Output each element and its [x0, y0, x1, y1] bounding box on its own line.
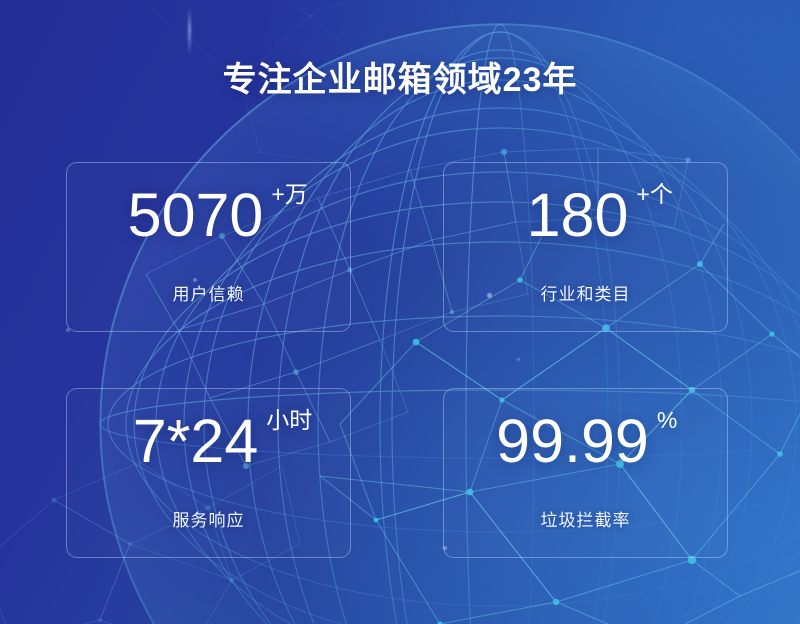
stat-card-service-response: 7*24 小时 服务响应	[66, 388, 351, 558]
stat-unit: +万	[271, 183, 307, 206]
light-streak-icon	[188, 8, 191, 56]
stat-card-industries-categories: 180 +个 行业和类目	[443, 162, 728, 332]
stat-label: 行业和类目	[541, 280, 631, 305]
stat-label: 用户信赖	[173, 280, 245, 305]
stat-value: 7*24 小时	[133, 411, 259, 472]
promo-banner: 专注企业邮箱领域23年 5070 +万 用户信赖 180 +个 行业和类目 7*…	[0, 0, 800, 624]
stat-value: 99.99 %	[496, 411, 649, 472]
stat-label: 垃圾拦截率	[541, 506, 631, 531]
stat-value: 5070 +万	[128, 185, 264, 246]
stat-card-spam-intercept-rate: 99.99 % 垃圾拦截率	[443, 388, 728, 558]
stat-number: 180	[527, 181, 629, 249]
stat-unit: +个	[636, 183, 672, 206]
stat-unit: 小时	[266, 409, 312, 432]
stat-card-users-trusted: 5070 +万 用户信赖	[66, 162, 351, 332]
stat-number: 5070	[128, 181, 264, 249]
stat-number: 99.99	[496, 407, 649, 475]
stat-label: 服务响应	[173, 506, 245, 531]
page-title: 专注企业邮箱领域23年	[0, 52, 800, 101]
stat-number: 7*24	[133, 407, 259, 475]
stat-unit: %	[657, 409, 677, 432]
stats-grid: 5070 +万 用户信赖 180 +个 行业和类目 7*24 小时 服务响应 9…	[66, 162, 728, 558]
stat-value: 180 +个	[527, 185, 629, 246]
